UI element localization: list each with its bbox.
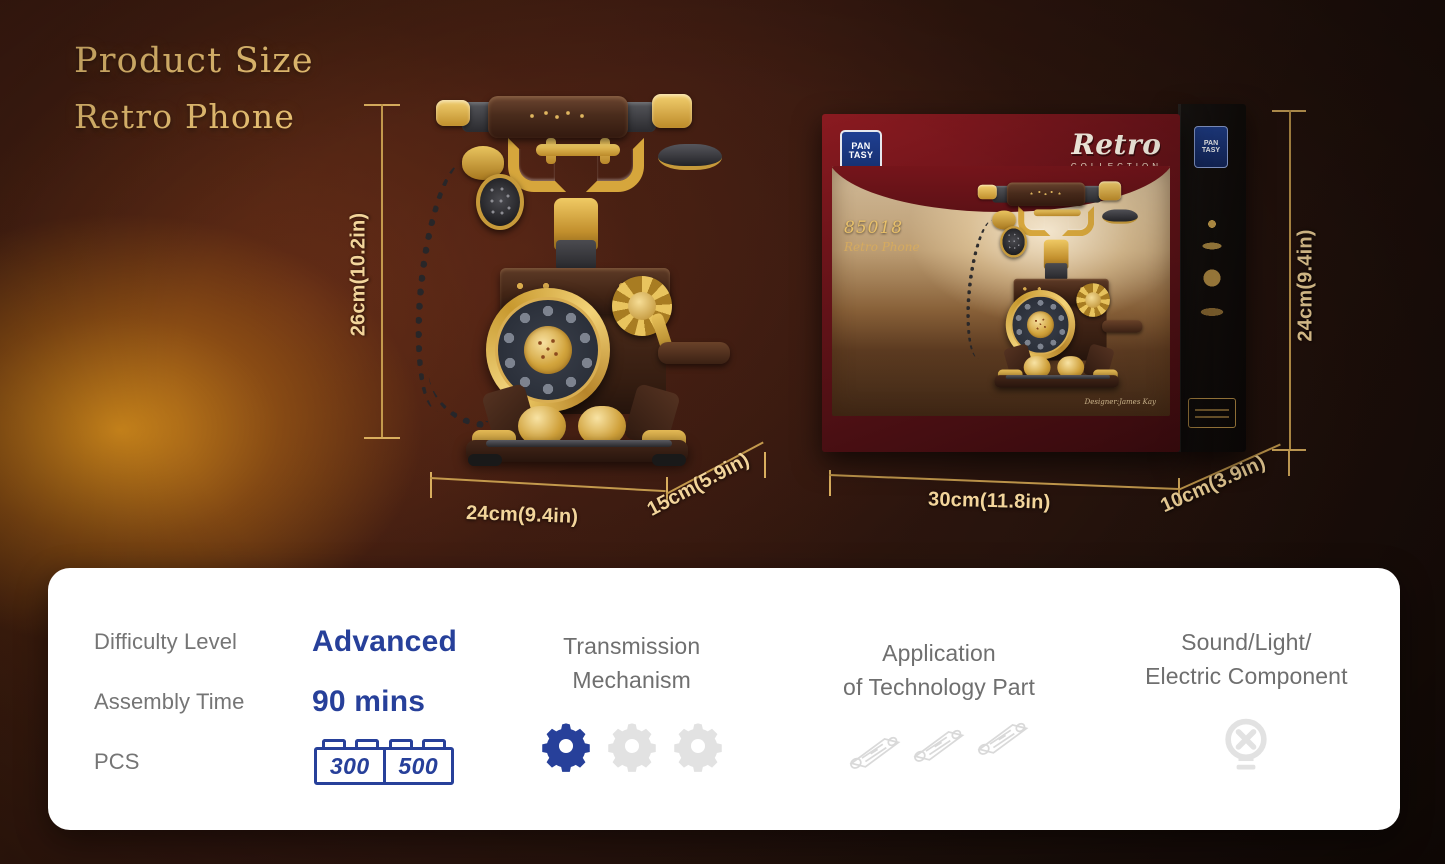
side-brand-line-1: PAN: [1204, 140, 1218, 147]
box-depth-cap: [1288, 450, 1290, 476]
box-sku-number: 85018: [844, 218, 920, 238]
gear-icon: [605, 719, 659, 773]
phone-neck-joint: [556, 240, 596, 270]
phone-cross-bar: [536, 144, 620, 156]
box-phone-base-rod: [1006, 375, 1110, 379]
box-handset-knob-left: [978, 185, 997, 200]
box-cover-photo: Designer:James Kay: [832, 166, 1170, 416]
electric-rating: [1217, 715, 1275, 777]
rotary-dial-center-ornament: [533, 335, 563, 365]
technic-pin-icon: [844, 732, 906, 772]
title-line-1: Product Size: [74, 38, 314, 84]
box-handset-ornament: [1025, 189, 1066, 198]
feature-title-line-1: Sound/Light/: [1145, 625, 1348, 659]
page-title: Product Size Retro Phone: [74, 38, 314, 140]
model-height-cap-bottom: [364, 437, 400, 439]
spec-row-difficulty: Difficulty Level Advanced: [94, 612, 478, 672]
feature-title-transmission: Transmission Mechanism: [563, 629, 700, 697]
spec-value-difficulty: Advanced: [312, 625, 457, 659]
series-mark: Retro COLLECTION: [1071, 128, 1162, 171]
phone-crank-handle: [658, 342, 730, 364]
brick-body: 300 500: [314, 747, 454, 785]
model-depth-cap: [764, 452, 766, 478]
model-height-label: 26cm(10.2in): [347, 213, 370, 337]
handset-knob-right: [652, 94, 692, 128]
spec-row-assembly-time: Assembly Time 90 mins: [94, 672, 478, 732]
spec-value-assembly-time: 90 mins: [312, 685, 425, 719]
box-front-panel: PAN TASY Retro COLLECTION: [822, 114, 1180, 452]
box-side-brand-logo: PAN TASY: [1194, 126, 1228, 168]
box-earpiece-holes: [1006, 232, 1022, 252]
handset-knob-left: [436, 100, 470, 126]
box-phone-neck-joint: [1045, 263, 1067, 280]
phone-base-rod: [486, 440, 672, 447]
technic-pin-icon: [972, 718, 1034, 758]
box-phone-crank-hub: [1085, 292, 1101, 308]
feature-title-line-2: of Technology Part: [843, 670, 1035, 704]
spec-list: Difficulty Level Advanced Assembly Time …: [48, 568, 478, 830]
box-width-label: 30cm(11.8in): [928, 488, 1051, 514]
feature-title-electric: Sound/Light/ Electric Component: [1145, 625, 1348, 693]
series-name: Retro: [1071, 128, 1162, 161]
feature-technology-part: Application of Technology Part: [785, 568, 1092, 830]
side-brand-line-2: TASY: [1202, 147, 1220, 154]
gear-icon: [671, 719, 725, 773]
spec-label-assembly-time: Assembly Time: [94, 689, 312, 715]
feature-title-line-2: Mechanism: [563, 663, 700, 697]
box-handset-knob-right: [1099, 181, 1121, 200]
box-rotary-dial-center-ornament: [1032, 316, 1049, 333]
box-phone-crank-handle: [1102, 320, 1142, 332]
retro-phone-model-image: [400, 88, 740, 478]
phone-bell-dome: [658, 144, 722, 170]
infographic-canvas: Product Size Retro Phone 26cm(10.2in) 24…: [0, 0, 1445, 864]
box-photo-phone: [958, 178, 1059, 306]
spec-label-difficulty: Difficulty Level: [94, 629, 312, 655]
box-depth-label: 10cm(3.9in): [1157, 451, 1269, 518]
pcs-value-low: 300: [317, 750, 383, 782]
feature-electric-component: Sound/Light/ Electric Component: [1093, 568, 1400, 830]
box-side-product-silhouette: [1190, 212, 1234, 332]
technic-pin-rating: [844, 726, 1034, 766]
pcs-brick-badge: 300 500: [314, 739, 454, 785]
feature-title-line-1: Transmission: [563, 629, 700, 663]
product-box-image: PAN TASY PAN TASY Retro COLLECTION: [822, 104, 1246, 452]
box-phone-bell-dome: [1102, 209, 1138, 224]
gear-rating: [539, 719, 725, 773]
box-height-line: [1289, 110, 1291, 450]
brand-line-2: TASY: [849, 151, 874, 160]
handset-ornament: [520, 108, 594, 124]
spec-row-pcs: PCS 300 500: [94, 732, 478, 792]
feature-title-line-1: Application: [843, 636, 1035, 670]
box-height-cap-bottom: [1272, 449, 1306, 451]
title-line-2: Retro Phone: [74, 94, 314, 140]
box-side-nameplate: [1188, 398, 1236, 428]
phone-pad-right: [652, 454, 686, 466]
model-width-line: [430, 477, 666, 492]
gear-icon: [539, 719, 593, 773]
box-phone-cross-bar: [1034, 209, 1081, 216]
technic-pin-icon: [908, 725, 970, 765]
bulb-disabled-icon: [1217, 715, 1275, 777]
model-width-label: 24cm(9.4in): [466, 502, 579, 529]
phone-cord-lower: [428, 338, 488, 428]
spec-panel: Difficulty Level Advanced Assembly Time …: [48, 568, 1400, 830]
phone-pad-left: [468, 454, 502, 466]
feature-title-line-2: Electric Component: [1145, 659, 1348, 693]
pcs-value-high: 500: [383, 750, 452, 782]
spec-label-pcs: PCS: [94, 749, 312, 775]
feature-title-technology: Application of Technology Part: [843, 636, 1035, 704]
box-product-name: Retro Phone: [844, 240, 920, 254]
feature-transmission-mechanism: Transmission Mechanism: [478, 568, 785, 830]
box-side-panel: PAN TASY: [1178, 104, 1246, 452]
box-sku-block: 85018 Retro Phone: [844, 218, 920, 254]
box-width-line: [829, 474, 1179, 490]
earpiece-holes: [486, 184, 514, 220]
box-height-label: 24cm(9.4in): [1295, 229, 1318, 341]
designer-credit: Designer:James Kay: [1085, 398, 1156, 406]
model-height-line: [381, 104, 383, 438]
